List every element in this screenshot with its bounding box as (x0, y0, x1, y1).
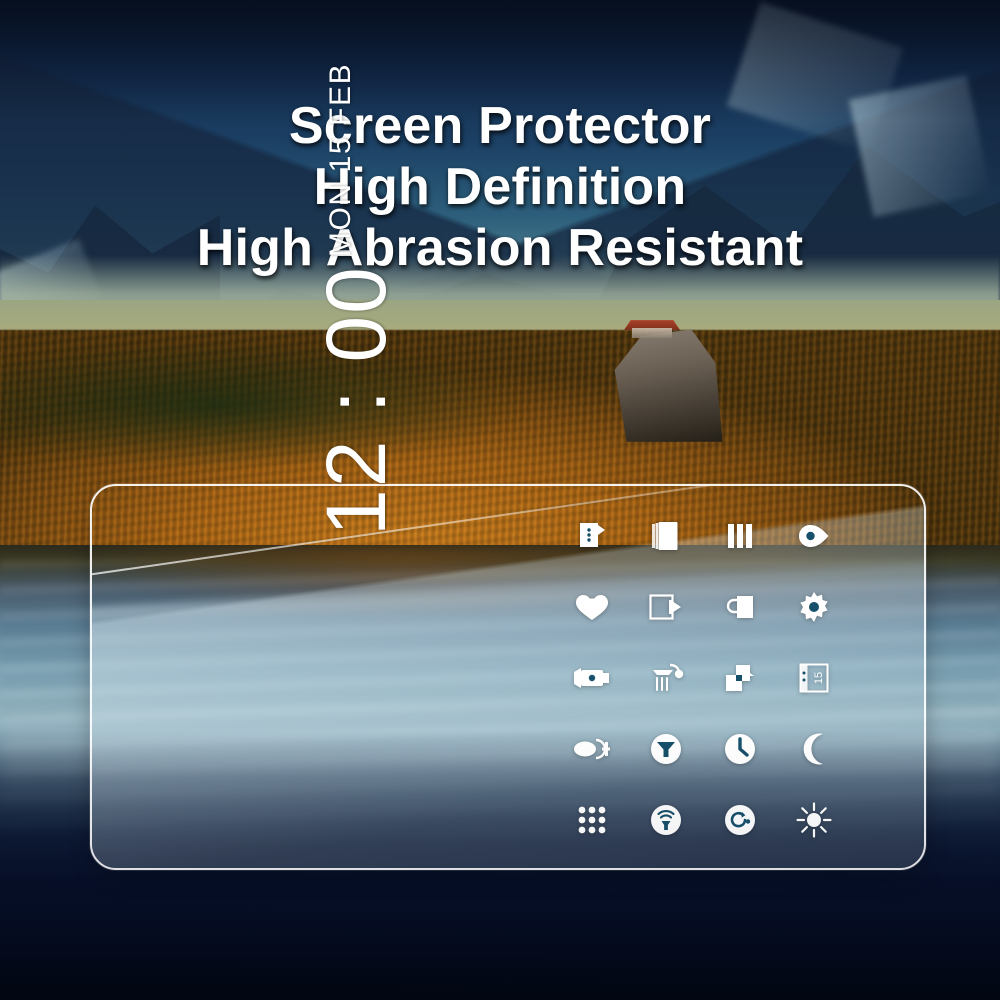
flashlight-icon[interactable] (555, 642, 629, 713)
calendar-icon[interactable]: 15 (777, 642, 851, 713)
gear-icon[interactable] (777, 571, 851, 642)
funnel-icon[interactable] (629, 713, 703, 784)
headline-line-3: High Abrasion Resistant (0, 218, 1000, 279)
castle-wall (632, 328, 672, 338)
book-icon[interactable] (629, 500, 703, 571)
brightness-icon[interactable] (777, 784, 851, 855)
messages-icon[interactable] (555, 500, 629, 571)
headline-line-2: High Definition (0, 157, 1000, 218)
video-camera-icon[interactable] (629, 571, 703, 642)
lockscreen-clock: 12 : 00 MON 15 FEB (318, 63, 395, 536)
rotation-lock-icon[interactable] (703, 784, 777, 855)
shower-icon[interactable] (629, 642, 703, 713)
heart-icon[interactable] (555, 571, 629, 642)
clock-icon[interactable] (703, 713, 777, 784)
app-grid-icon[interactable] (555, 784, 629, 855)
coffee-mug-icon[interactable] (703, 571, 777, 642)
clock-time: 12 : 00 (318, 265, 395, 536)
headline-line-1: Screen Protector (0, 96, 1000, 157)
bars-icon[interactable] (703, 500, 777, 571)
location-eye-icon[interactable] (777, 500, 851, 571)
clock-date: MON 15 FEB (324, 63, 358, 257)
copy-icon[interactable] (703, 642, 777, 713)
quick-settings-grid: 15 (555, 500, 855, 855)
calendar-day-label: 15 (813, 671, 825, 683)
hotspot-icon[interactable] (629, 784, 703, 855)
product-poster: Screen Protector High Definition High Ab… (0, 0, 1000, 1000)
headline: Screen Protector High Definition High Ab… (0, 96, 1000, 278)
microphone-icon[interactable] (555, 713, 629, 784)
moon-icon[interactable] (777, 713, 851, 784)
